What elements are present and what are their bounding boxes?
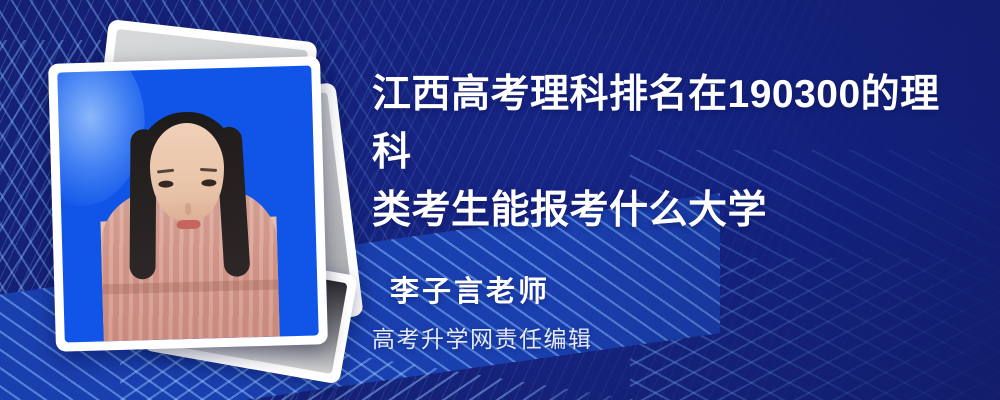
author-photo-card: [48, 56, 328, 351]
author-photo: [57, 66, 318, 343]
author-role: 高考升学网责任编辑: [372, 320, 593, 354]
banner-title: 江西高考理科排名在190300的理科 类考生能报考什么大学: [372, 66, 962, 240]
portrait-nose: [185, 203, 191, 215]
portrait-eye-left: [158, 180, 173, 187]
author-portrait-illustration: [57, 66, 318, 343]
portrait-eye-right: [201, 179, 216, 186]
article-header-banner: 江西高考理科排名在190300的理科 类考生能报考什么大学 李子言老师 高考升学…: [0, 0, 1000, 400]
banner-text-block: 江西高考理科排名在190300的理科 类考生能报考什么大学 李子言老师 高考升学…: [372, 0, 972, 400]
photo-card-stack: [42, 22, 352, 372]
author-name: 李子言老师: [390, 268, 550, 310]
portrait-mouth: [176, 220, 200, 230]
